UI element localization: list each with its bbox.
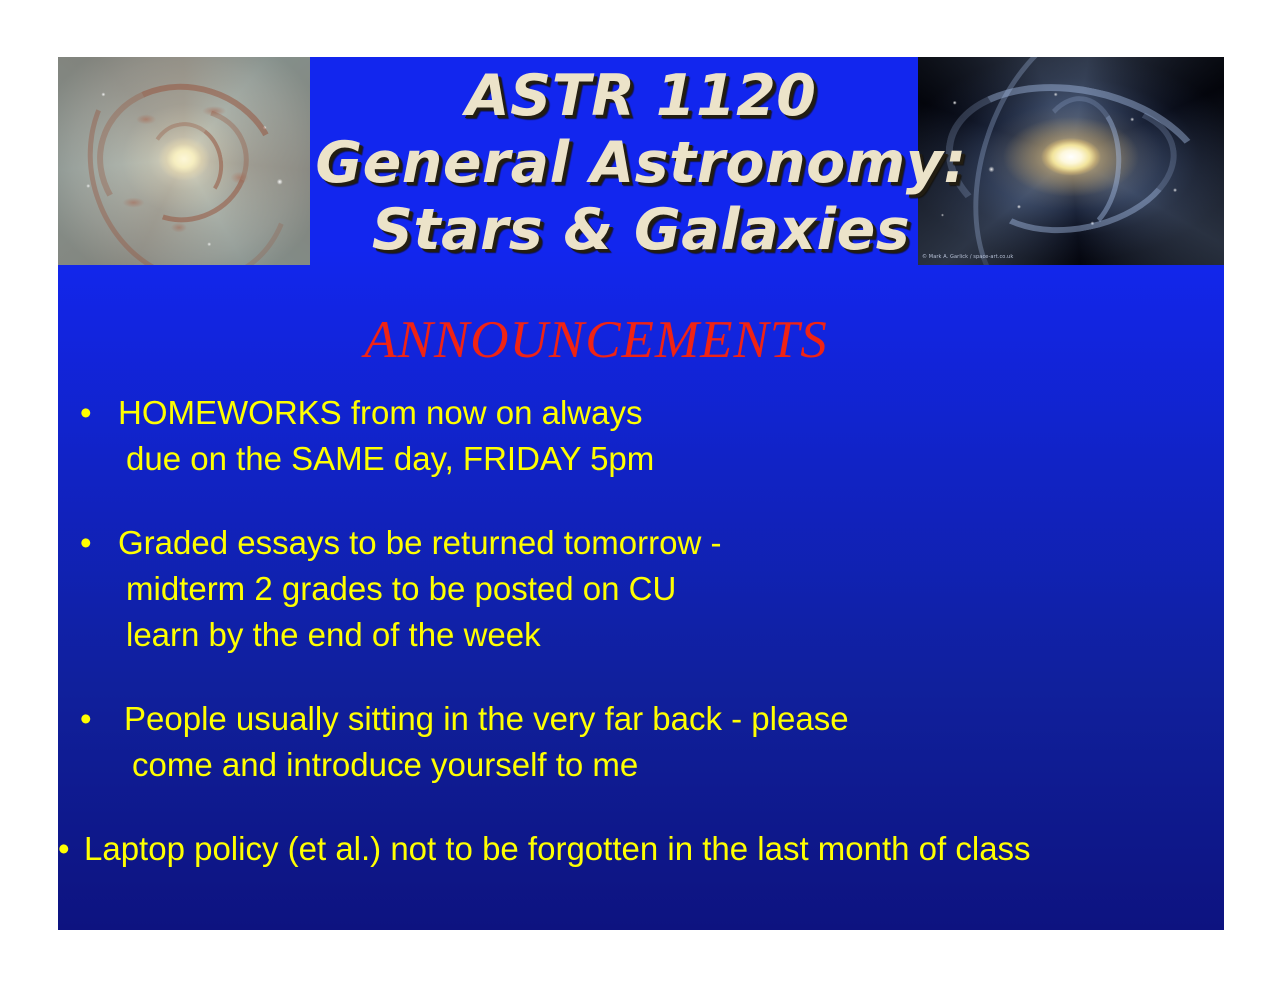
list-item: • People usually sitting in the very far… xyxy=(58,696,1224,788)
list-item-line: People usually sitting in the very far b… xyxy=(124,696,1224,742)
bullet-marker-icon: • xyxy=(80,390,102,436)
title-line-2: General Astronomy: xyxy=(310,130,972,197)
title-line-1: ASTR 1120 xyxy=(310,63,972,130)
list-item-text: Laptop policy (et al.) not to be forgott… xyxy=(84,826,1224,872)
list-item: • HOMEWORKS from now on always due on th… xyxy=(58,390,1224,482)
slide-canvas: © Mark A. Garlick / space-art.co.uk ASTR… xyxy=(0,0,1280,989)
whirlpool-spiral-galaxy-photo xyxy=(58,57,310,265)
list-item-text: HOMEWORKS from now on always due on the … xyxy=(118,390,1224,482)
list-item-text: People usually sitting in the very far b… xyxy=(124,696,1224,788)
list-item: • Laptop policy (et al.) not to be forgo… xyxy=(58,826,1224,872)
list-item-line: HOMEWORKS from now on always xyxy=(118,390,1224,436)
bullet-marker-icon: • xyxy=(80,696,102,742)
list-item-line: learn by the end of the week xyxy=(118,612,1224,658)
list-item: • Graded essays to be returned tomorrow … xyxy=(58,520,1224,658)
list-item-text: Graded essays to be returned tomorrow - … xyxy=(118,520,1224,658)
bullet-marker-icon: • xyxy=(58,826,80,872)
slide-title: ASTR 1120 General Astronomy: Stars & Gal… xyxy=(310,63,972,264)
title-line-3: Stars & Galaxies xyxy=(310,197,972,264)
list-item-line: midterm 2 grades to be posted on CU xyxy=(118,566,1224,612)
presentation-slide: © Mark A. Garlick / space-art.co.uk ASTR… xyxy=(58,57,1224,930)
list-item-line: due on the SAME day, FRIDAY 5pm xyxy=(118,436,1224,482)
list-item-line: come and introduce yourself to me xyxy=(124,742,1224,788)
list-item-line: Graded essays to be returned tomorrow - xyxy=(118,520,1224,566)
list-item-line: Laptop policy (et al.) not to be forgott… xyxy=(84,826,1224,872)
bullet-marker-icon: • xyxy=(80,520,102,566)
announcements-list: • HOMEWORKS from now on always due on th… xyxy=(58,390,1224,872)
announcements-heading: ANNOUNCEMENTS xyxy=(58,310,1224,370)
